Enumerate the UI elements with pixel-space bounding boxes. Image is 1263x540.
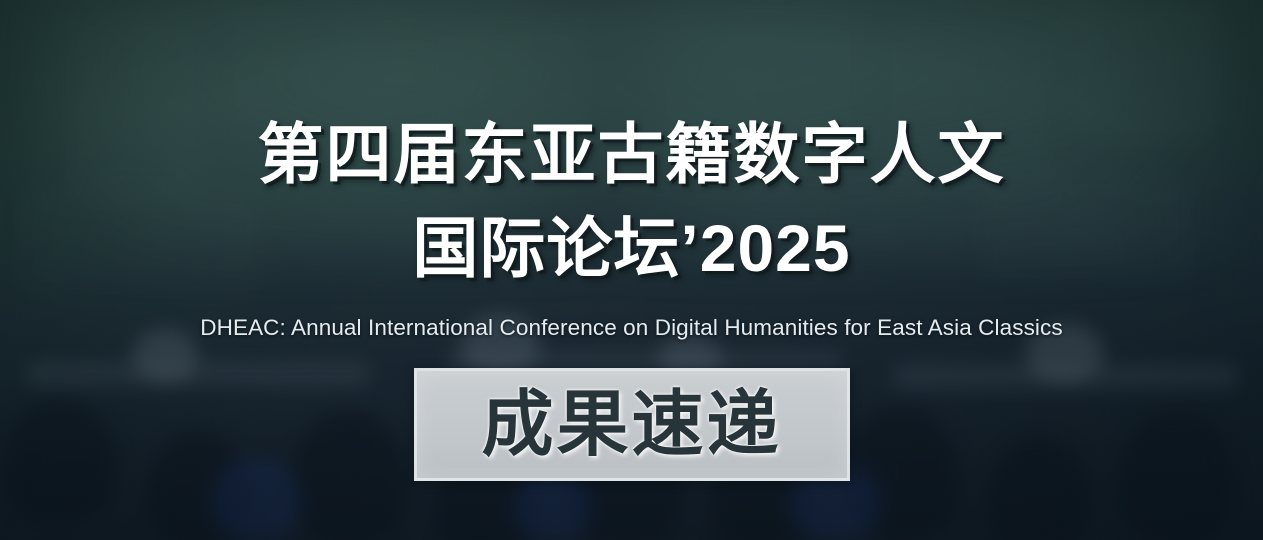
badge-container: 成果速递: [0, 368, 1263, 481]
conference-poster-banner: 第四届东亚古籍数字人文 国际论坛’2025 DHEAC: Annual Inte…: [0, 0, 1263, 540]
poster-subtitle-english: DHEAC: Annual International Conference o…: [200, 315, 1062, 341]
title-line-2: 国际论坛’2025: [0, 202, 1263, 296]
title-line-1: 第四届东亚古籍数字人文: [0, 108, 1263, 202]
results-highlight-badge: 成果速递: [414, 368, 850, 481]
poster-title: 第四届东亚古籍数字人文 国际论坛’2025: [0, 108, 1263, 295]
poster-content: 第四届东亚古籍数字人文 国际论坛’2025 DHEAC: Annual Inte…: [0, 0, 1263, 540]
badge-label: 成果速递: [481, 389, 781, 461]
